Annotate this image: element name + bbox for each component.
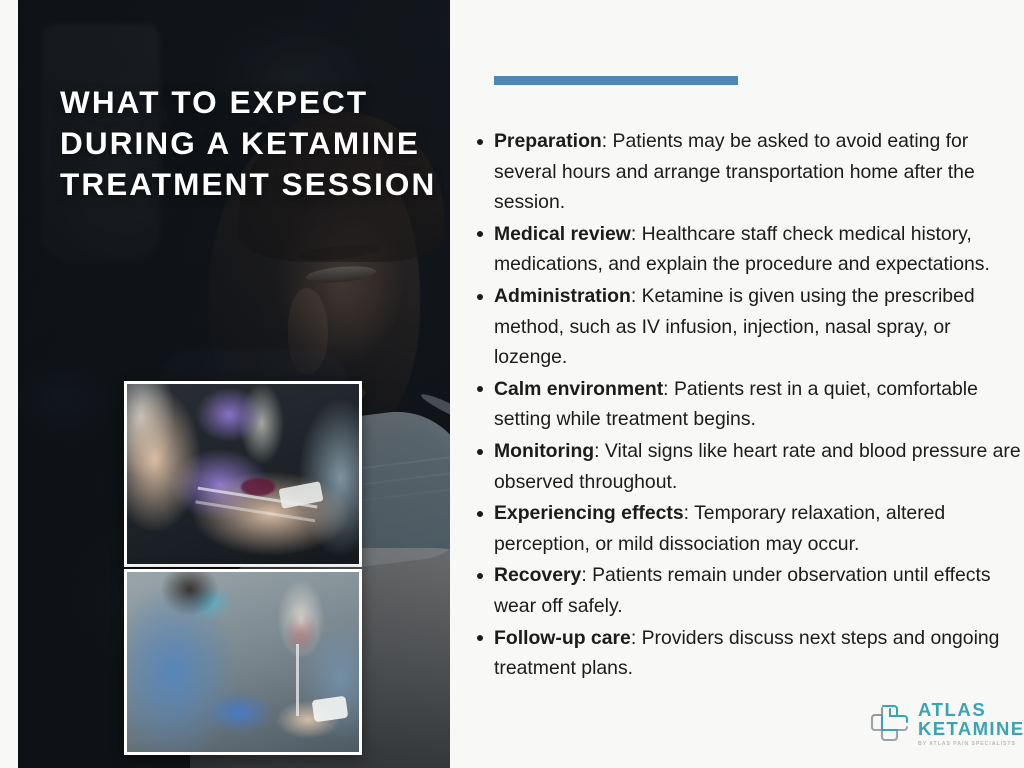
bullet-list: Preparation: Patients may be asked to av…: [472, 126, 1024, 685]
list-item-term: Calm environment: [494, 378, 663, 400]
brand-tagline: BY ATLAS PAIN SPECIALISTS: [918, 740, 1024, 748]
iv-insertion-site: [241, 478, 275, 496]
brand-name-line-1: ATLAS: [918, 700, 1024, 719]
list-item: Administration: Ketamine is given using …: [472, 281, 1024, 373]
list-item-term: Follow-up care: [494, 627, 631, 649]
brand-logo: ATLAS KETAMINE BY ATLAS PAIN SPECIALISTS: [866, 700, 1016, 752]
list-item-term: Recovery: [494, 564, 581, 586]
list-item-term: Monitoring: [494, 440, 594, 462]
left-panel: WHAT TO EXPECT DURING A KETAMINE TREATME…: [18, 0, 450, 768]
page-title-line-2: DURING A KETAMINE: [60, 123, 440, 164]
list-item: Recovery: Patients remain under observat…: [472, 560, 1024, 621]
brand-logo-text: ATLAS KETAMINE BY ATLAS PAIN SPECIALISTS: [918, 700, 1024, 748]
iv-tape: [279, 481, 324, 509]
brand-name-line-2: KETAMINE: [918, 719, 1024, 739]
medical-cross-icon: [866, 702, 912, 748]
list-item-term: Preparation: [494, 130, 602, 152]
list-item-term: Experiencing effects: [494, 502, 684, 524]
list-item-term: Administration: [494, 285, 631, 307]
page-title: WHAT TO EXPECT DURING A KETAMINE TREATME…: [60, 82, 440, 205]
inset-photo-iv-insertion: [124, 381, 362, 567]
accent-bar: [494, 76, 738, 85]
inset-photo-nurse-infusion: [124, 569, 362, 755]
page-title-line-1: WHAT TO EXPECT: [60, 82, 440, 123]
slide: WHAT TO EXPECT DURING A KETAMINE TREATME…: [0, 0, 1024, 768]
page-title-line-3: TREATMENT SESSION: [60, 164, 440, 205]
list-item: Calm environment: Patients rest in a qui…: [472, 374, 1024, 435]
list-item: Follow-up care: Providers discuss next s…: [472, 623, 1024, 684]
inset-photo-2-image: [127, 572, 359, 752]
list-item: Preparation: Patients may be asked to av…: [472, 126, 1024, 218]
list-item: Experiencing effects: Temporary relaxati…: [472, 498, 1024, 559]
iv-cuff: [311, 696, 348, 723]
list-item: Monitoring: Vital signs like heart rate …: [472, 436, 1024, 497]
list-item: Medical review: Healthcare staff check m…: [472, 219, 1024, 280]
inset-photo-1-image: [127, 384, 359, 564]
list-item-term: Medical review: [494, 223, 631, 245]
